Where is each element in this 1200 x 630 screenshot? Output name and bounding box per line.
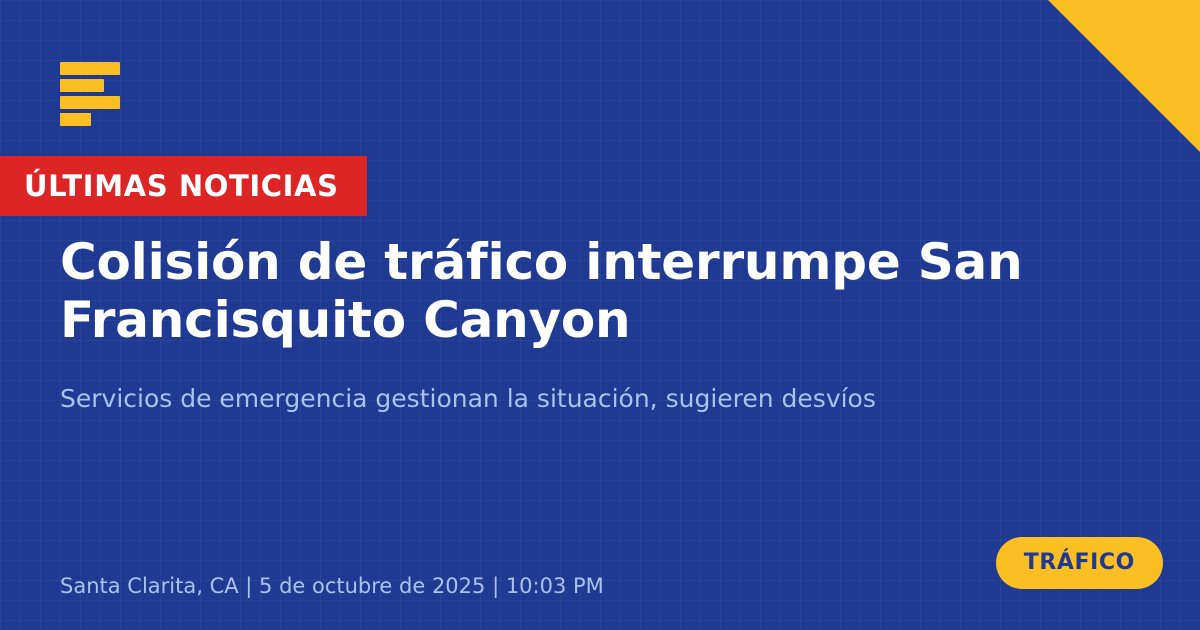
page-title: Colisión de tráfico interrumpe San Franc… <box>60 233 1070 349</box>
news-logo-mark[interactable] <box>60 62 124 126</box>
breaking-news-card: ÚLTIMAS NOTICIAS Colisión de tráfico int… <box>0 0 1200 630</box>
article-subtitle: Servicios de emergencia gestionan la sit… <box>60 383 1060 416</box>
logo-bar-4-icon <box>60 113 91 126</box>
breaking-news-badge: ÚLTIMAS NOTICIAS <box>0 156 367 216</box>
logo-bar-1-icon <box>60 62 120 75</box>
article-meta-line: Santa Clarita, CA | 5 de octubre de 2025… <box>60 576 604 597</box>
logo-bar-3-icon <box>60 96 120 109</box>
category-badge-label: TRÁFICO <box>1024 552 1135 574</box>
corner-wedge-decoration <box>1048 0 1200 152</box>
logo-bar-2-icon <box>60 79 104 92</box>
category-badge[interactable]: TRÁFICO <box>996 537 1163 589</box>
breaking-news-label: ÚLTIMAS NOTICIAS <box>24 172 339 201</box>
